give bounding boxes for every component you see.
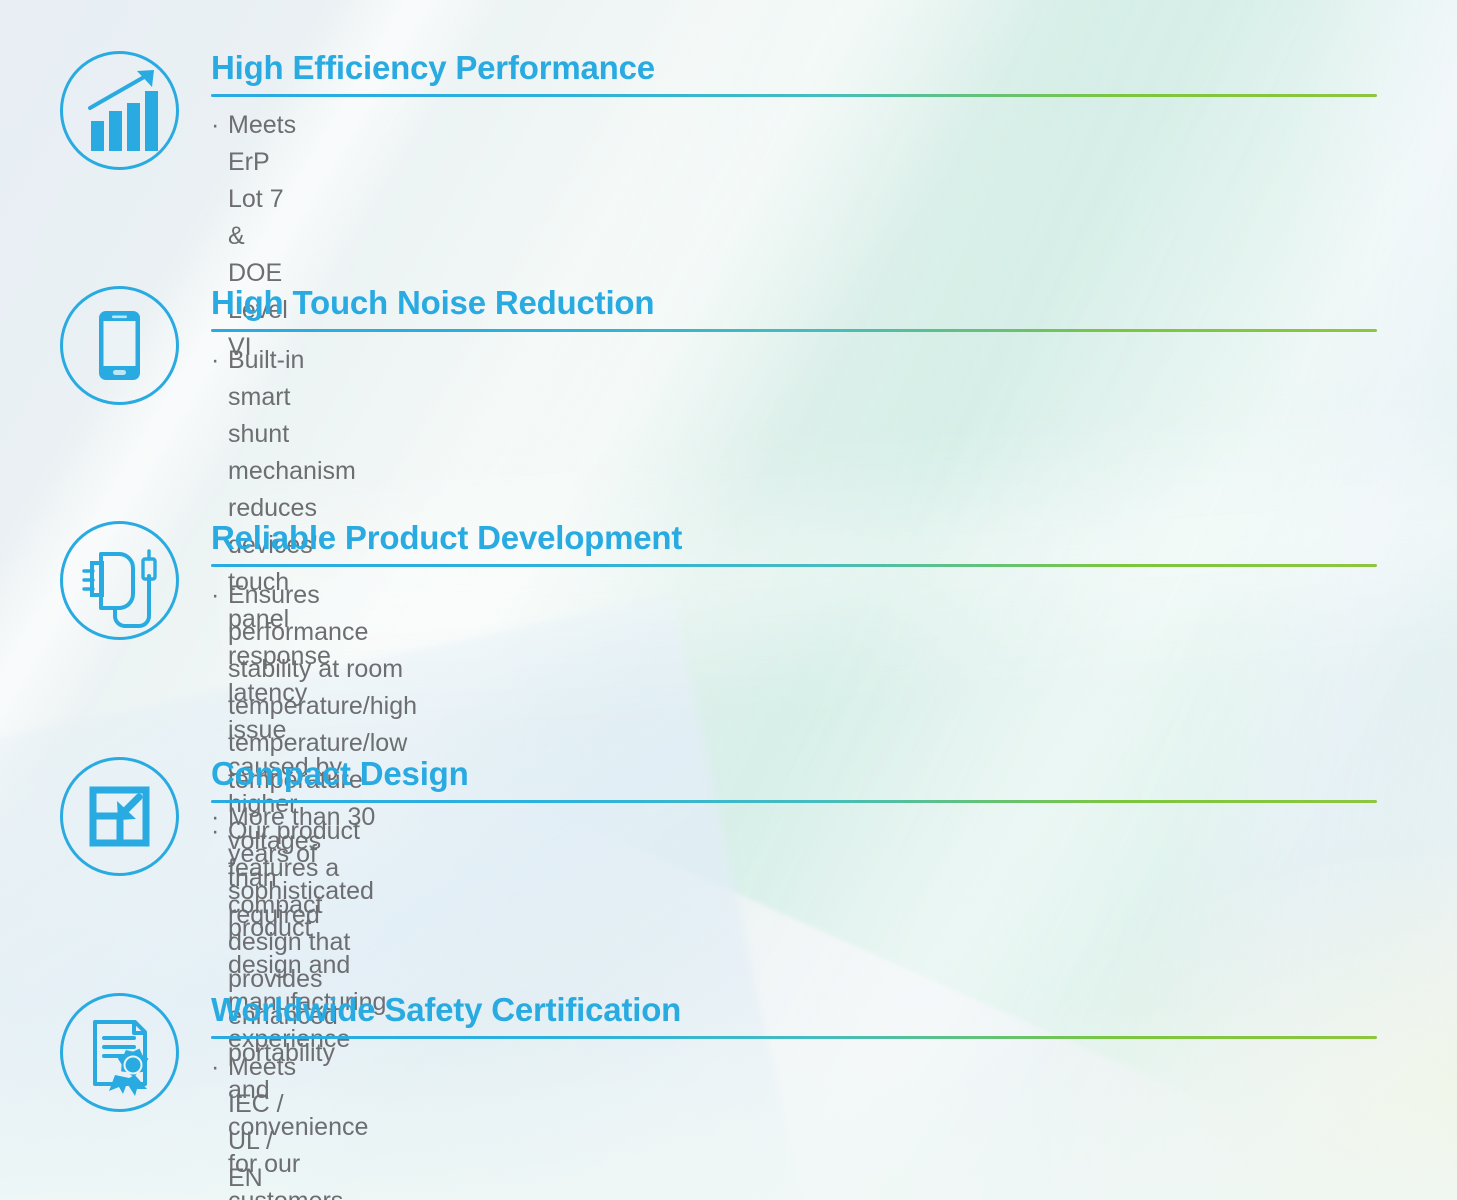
- certificate-award-icon: [57, 990, 182, 1115]
- bullet-marker: ·: [211, 342, 228, 379]
- compact-resize-icon: [57, 754, 182, 879]
- bullet-marker: ·: [211, 577, 228, 614]
- bullet-marker: ·: [211, 1049, 228, 1086]
- bullet-marker: ·: [211, 813, 228, 850]
- bullet-marker: ·: [211, 107, 228, 144]
- feature-divider: [211, 329, 1377, 332]
- feature-divider: [211, 564, 1377, 567]
- feature-divider: [211, 800, 1377, 803]
- smartphone-icon: [57, 283, 182, 408]
- bullet-text: Meets ErP Lot 7 & DOE Level VI: [228, 107, 296, 366]
- feature-divider: [211, 94, 1377, 97]
- power-adapter-icon: [57, 518, 182, 643]
- feature-list-page: High Efficiency Performance · Meets ErP …: [0, 0, 1457, 1200]
- feature-divider: [211, 1036, 1377, 1039]
- bar-chart-growth-icon: [57, 48, 182, 173]
- bullet-text: Meets IEC / UL / EN 62368-1: [228, 1049, 306, 1200]
